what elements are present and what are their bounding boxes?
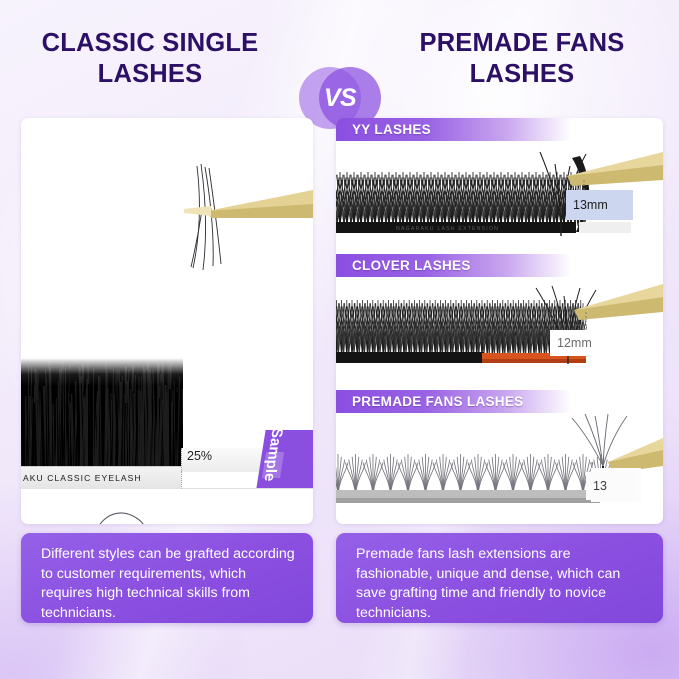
clover-lashes-banner: CLOVER LASHES xyxy=(336,254,663,277)
yy-lashes-title: YY LASHES xyxy=(352,122,431,137)
svg-text:NAGARAKU LASH EXTENSION: NAGARAKU LASH EXTENSION xyxy=(396,226,499,232)
right-caption-text: Premade fans lash extensions are fashion… xyxy=(356,545,649,623)
section-yy-lashes: NAGARAKU LASH EXTENSION YY LASHES 13mm xyxy=(336,118,663,254)
section-clover-lashes: CLOVER LASHES 12mm xyxy=(336,254,663,390)
classic-single-lashes-card: AKU CLASSIC EYELASH 25% Sample xyxy=(21,118,313,524)
premade-fans-lashes-card: NAGARAKU LASH EXTENSION YY LASHES 13mm xyxy=(336,118,663,524)
left-caption-text: Different styles can be grafted accordin… xyxy=(41,545,299,623)
yy-lashes-measure-chip: 13mm xyxy=(566,190,633,220)
premade-fans-title: PREMADE FANS LASHES xyxy=(352,394,523,409)
clover-lashes-measure-chip: 12mm xyxy=(550,330,619,356)
premade-fans-measure-chip: 13 xyxy=(586,472,635,500)
left-caption: Different styles can be grafted accordin… xyxy=(21,533,313,623)
clover-lashes-title: CLOVER LASHES xyxy=(352,258,471,273)
yy-lashes-banner: YY LASHES xyxy=(336,118,663,141)
left-title: CLASSIC SINGLE LASHES xyxy=(14,28,286,90)
section-premade-fans: PREMADE FANS LASHES 13 xyxy=(336,390,663,524)
right-caption: Premade fans lash extensions are fashion… xyxy=(336,533,663,623)
comparison-header: CLASSIC SINGLE LASHES VS PREMADE FANS LA… xyxy=(0,28,679,110)
premade-fans-banner: PREMADE FANS LASHES xyxy=(336,390,663,413)
right-title: PREMADE FANS LASHES xyxy=(386,28,658,90)
classic-lash-illustration xyxy=(21,118,313,524)
